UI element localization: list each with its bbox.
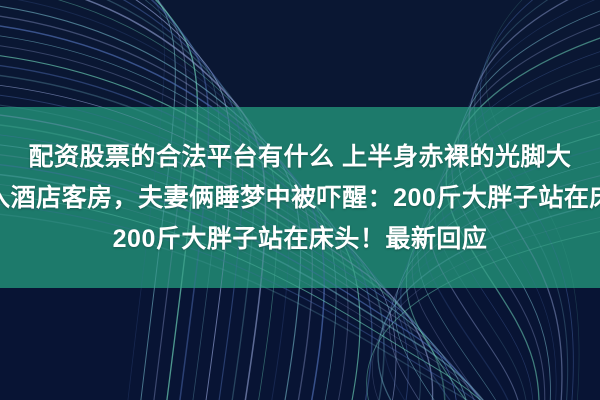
headline-line-2: 入酒店客房，夫妻俩睡梦中被吓醒：200斤大胖子站在床 xyxy=(0,179,600,217)
navy-wave-band-bottom xyxy=(0,288,600,400)
headline-line-3: 200斤大胖子站在床头！最新回应 xyxy=(113,220,488,258)
navy-background-top xyxy=(0,0,600,107)
banner-image: 配资股票的合法平台有什么 上半身赤裸的光脚大 入酒店客房，夫妻俩睡梦中被吓醒：2… xyxy=(0,0,600,400)
navy-wave-band-top xyxy=(0,0,600,107)
headline-line-1: 配资股票的合法平台有什么 上半身赤裸的光脚大 xyxy=(29,138,572,176)
navy-background-bottom xyxy=(0,288,600,400)
headline-block: 配资股票的合法平台有什么 上半身赤裸的光脚大 入酒店客房，夫妻俩睡梦中被吓醒：2… xyxy=(0,107,600,288)
